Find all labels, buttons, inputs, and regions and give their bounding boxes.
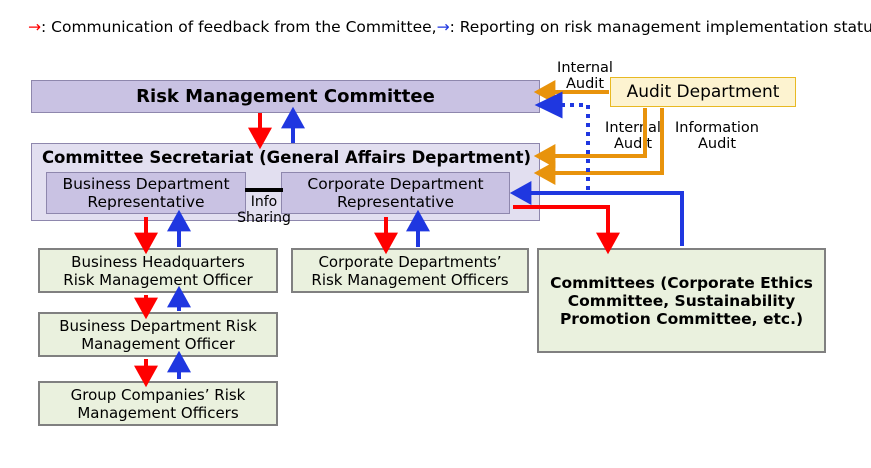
arrow-internal-audit-dotted-blue [549, 105, 588, 190]
legend-blue-arrow-icon: → [437, 18, 450, 36]
box-risk-management-committee: Risk Management Committee [31, 80, 540, 113]
box-corporate-department-representative: Corporate Department Representative [281, 172, 510, 214]
label-information-audit: Information Audit [672, 120, 762, 152]
box-business-department-representative: Business Department Representative [46, 172, 246, 214]
info-sharing-connector [245, 188, 283, 192]
info-sharing-label: Info Sharing [228, 194, 300, 226]
box-business-department-risk-management-officer: Business Department Risk Management Offi… [38, 312, 278, 357]
business-department-representative-label: Business Department Representative [62, 175, 229, 211]
group-companies-officers-label: Group Companies’ Risk Management Officer… [71, 386, 246, 422]
legend-blue-text: : Reporting on risk management implement… [450, 18, 871, 36]
box-business-headquarters-risk-management-officer: Business Headquarters Risk Management Of… [38, 248, 278, 293]
business-department-officer-label: Business Department Risk Management Offi… [59, 317, 257, 353]
legend-red-arrow-icon: → [28, 18, 41, 36]
box-committees: Committees (Corporate Ethics Committee, … [537, 248, 826, 353]
corporate-department-representative-label: Corporate Department Representative [307, 175, 483, 211]
box-corporate-departments-risk-management-officers: Corporate Departments’ Risk Management O… [291, 248, 529, 293]
business-headquarters-officer-label: Business Headquarters Risk Management Of… [63, 253, 252, 289]
corporate-departments-officers-label: Corporate Departments’ Risk Management O… [311, 253, 508, 289]
committee-secretariat-label: Committee Secretariat (General Affairs D… [32, 148, 541, 167]
legend-red-text: : Communication of feedback from the Com… [41, 18, 437, 36]
box-audit-department: Audit Department [610, 77, 796, 107]
committees-label: Committees (Corporate Ethics Committee, … [550, 274, 813, 328]
label-internal-audit-mid: Internal Audit [598, 120, 668, 152]
legend: →: Communication of feedback from the Co… [28, 16, 858, 38]
arrow-committees-to-secretariat-blue [521, 193, 682, 246]
box-group-companies-risk-management-officers: Group Companies’ Risk Management Officer… [38, 381, 278, 426]
label-internal-audit-top: Internal Audit [546, 60, 624, 92]
risk-management-structure-diagram: →: Communication of feedback from the Co… [0, 0, 871, 468]
